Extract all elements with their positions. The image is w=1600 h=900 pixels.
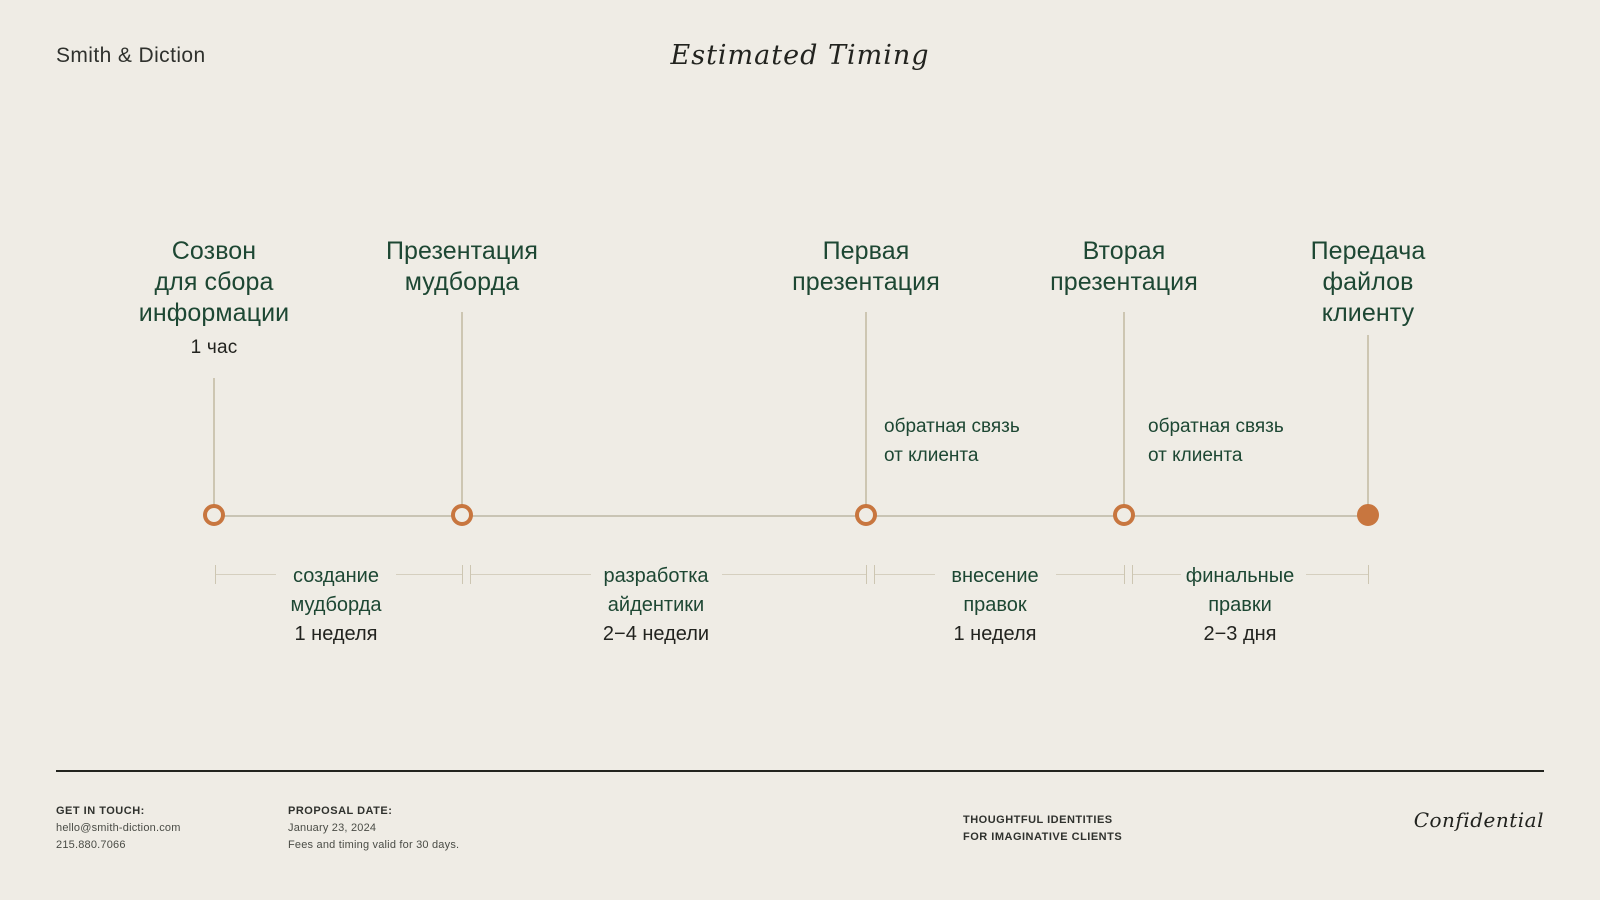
footer-proposal-block: PROPOSAL DATE: January 23, 2024 Fees and… (288, 803, 459, 854)
phase-line-1: создание (293, 565, 379, 587)
milestone-label-second-presentation: Вторая презентация (1050, 236, 1198, 298)
milestone-line-2: презентация (792, 268, 940, 296)
footer-divider (56, 770, 1544, 772)
feedback-note-first-presentation: обратная связь от клиента (884, 413, 1020, 470)
phase-tick-end-revisions (1124, 565, 1125, 584)
feedback-note-second-presentation: обратная связь от клиента (1148, 413, 1284, 470)
phase-line-2: мудборда (290, 594, 381, 616)
phase-line-2: правки (1208, 594, 1272, 616)
milestone-label-file-handoff: Передача файлов клиенту (1311, 236, 1426, 328)
phase-duration: 1 неделя (951, 620, 1038, 649)
timeline-diagram: Созвон для сбора информации 1 час Презен… (0, 0, 1600, 900)
timeline-node-file-handoff[interactable] (1357, 504, 1379, 526)
phase-label-final-edits: финальные правки 2−3 дня (1186, 562, 1294, 649)
phase-label-revisions: внесение правок 1 неделя (951, 562, 1038, 649)
phase-label-identity-development: разработка айдентики 2−4 недели (603, 562, 709, 649)
timeline-node-first-presentation[interactable] (855, 504, 877, 526)
milestone-line-3: информации (139, 299, 290, 327)
footer-contact-phone[interactable]: 215.880.7066 (56, 837, 181, 854)
feedback-line-1: обратная связь (1148, 416, 1284, 437)
phase-rule-right-final-edits (1306, 574, 1368, 575)
milestone-line-2: для сбора (154, 268, 273, 296)
milestone-label-kickoff-call: Созвон для сбора информации 1 час (139, 236, 290, 360)
phase-line-1: финальные (1186, 565, 1294, 587)
milestone-line-2: файлов (1322, 268, 1413, 296)
milestone-stem-second-presentation (1123, 312, 1125, 505)
footer-tagline-line-2: FOR IMAGINATIVE CLIENTS (963, 829, 1122, 846)
phase-line-1: разработка (603, 565, 708, 587)
confidential-stamp: Confidential (1414, 808, 1544, 832)
phase-line-1: внесение (951, 565, 1038, 587)
footer-proposal-heading: PROPOSAL DATE: (288, 803, 459, 820)
footer-tagline: THOUGHTFUL IDENTITIES FOR IMAGINATIVE CL… (963, 812, 1122, 846)
milestone-line-3: клиенту (1322, 299, 1414, 327)
phase-label-moodboard-creation: создание мудборда 1 неделя (290, 562, 381, 649)
phase-tick-end-moodboard-creation (462, 565, 463, 584)
milestone-line-1: Созвон (172, 237, 256, 265)
phase-duration: 2−3 дня (1186, 620, 1294, 649)
milestone-line-2: мудборда (405, 268, 520, 296)
phase-rule-left-identity-development (471, 574, 591, 575)
phase-duration: 2−4 недели (603, 620, 709, 649)
milestone-stem-first-presentation (865, 312, 867, 505)
timeline-node-kickoff-call[interactable] (203, 504, 225, 526)
milestone-line-1: Передача (1311, 237, 1426, 265)
phase-rule-right-revisions (1056, 574, 1124, 575)
phase-rule-right-identity-development (722, 574, 866, 575)
milestone-label-moodboard-presentation: Презентация мудборда (386, 236, 538, 298)
milestone-stem-moodboard-presentation (461, 312, 463, 505)
footer-contact-heading: GET IN TOUCH: (56, 803, 181, 820)
milestone-stem-kickoff-call (213, 378, 215, 505)
milestone-line-1: Презентация (386, 237, 538, 265)
phase-rule-left-moodboard-creation (216, 574, 276, 575)
phase-tick-end-final-edits (1368, 565, 1369, 584)
footer-tagline-line-1: THOUGHTFUL IDENTITIES (963, 812, 1122, 829)
milestone-label-first-presentation: Первая презентация (792, 236, 940, 298)
milestone-duration: 1 час (139, 336, 290, 359)
timeline-node-moodboard-presentation[interactable] (451, 504, 473, 526)
phase-duration: 1 неделя (290, 620, 381, 649)
phase-line-2: правок (963, 594, 1026, 616)
footer-proposal-note: Fees and timing valid for 30 days. (288, 837, 459, 854)
phase-rule-left-revisions (875, 574, 935, 575)
timeline-axis (214, 515, 1369, 517)
milestone-line-2: презентация (1050, 268, 1198, 296)
milestone-line-1: Первая (823, 237, 910, 265)
phase-line-2: айдентики (608, 594, 704, 616)
milestone-stem-file-handoff (1367, 335, 1369, 505)
feedback-line-2: от клиента (884, 445, 978, 466)
phase-tick-end-identity-development (866, 565, 867, 584)
footer-contact-block: GET IN TOUCH: hello@smith-diction.com 21… (56, 803, 181, 854)
feedback-line-1: обратная связь (884, 416, 1020, 437)
feedback-line-2: от клиента (1148, 445, 1242, 466)
footer-proposal-date: January 23, 2024 (288, 820, 459, 837)
phase-rule-right-moodboard-creation (396, 574, 462, 575)
timeline-node-second-presentation[interactable] (1113, 504, 1135, 526)
phase-rule-left-final-edits (1133, 574, 1181, 575)
milestone-line-1: Вторая (1083, 237, 1166, 265)
footer-contact-email[interactable]: hello@smith-diction.com (56, 820, 181, 837)
